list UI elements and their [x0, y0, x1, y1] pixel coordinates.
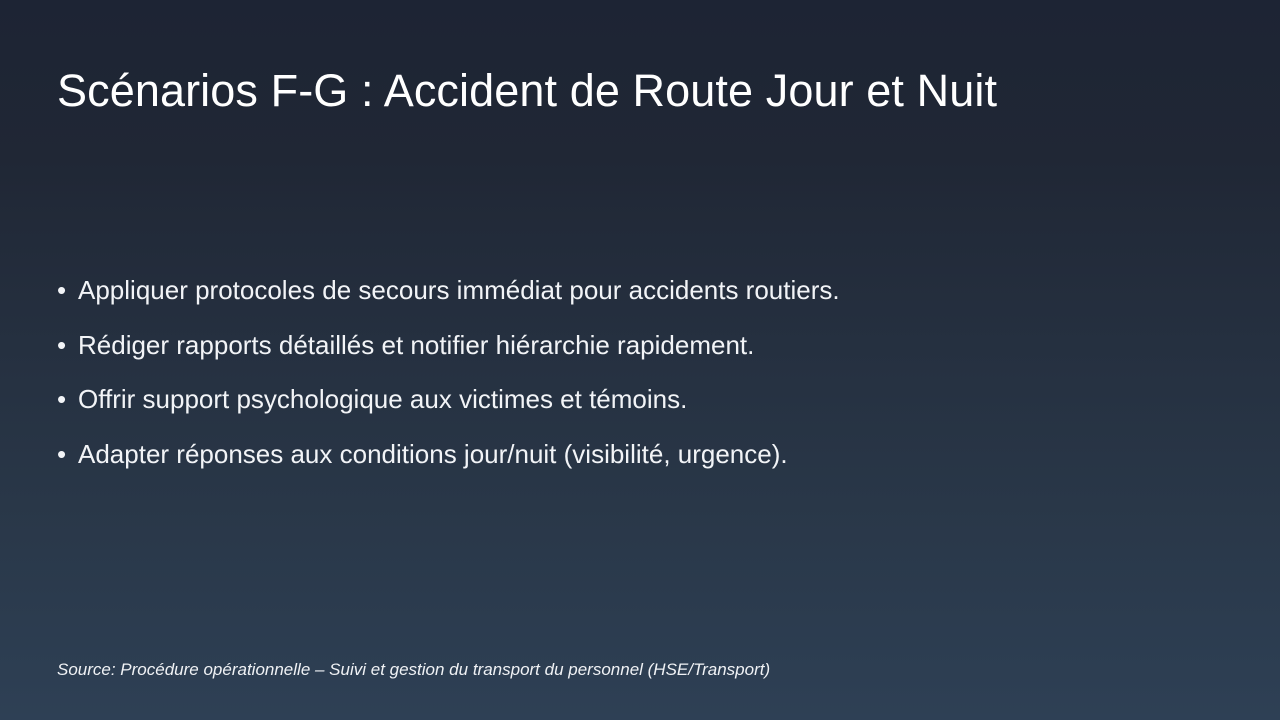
source-citation: Source: Procédure opérationnelle – Suivi…	[57, 659, 770, 681]
list-item-label: Appliquer protocoles de secours immédiat…	[78, 263, 840, 318]
list-item: • Appliquer protocoles de secours immédi…	[57, 263, 1197, 318]
bullet-point-icon: •	[57, 427, 78, 482]
bullet-list: • Appliquer protocoles de secours immédi…	[57, 263, 1197, 481]
page-title: Scénarios F-G : Accident de Route Jour e…	[57, 56, 1177, 126]
list-item-label: Rédiger rapports détaillés et notifier h…	[78, 318, 754, 373]
list-item: • Adapter réponses aux conditions jour/n…	[57, 427, 1197, 482]
list-item: • Offrir support psychologique aux victi…	[57, 372, 1197, 427]
list-item: • Rédiger rapports détaillés et notifier…	[57, 318, 1197, 373]
bullet-point-icon: •	[57, 372, 78, 427]
presentation-slide: Scénarios F-G : Accident de Route Jour e…	[0, 0, 1280, 720]
bullet-point-icon: •	[57, 318, 78, 373]
list-item-label: Offrir support psychologique aux victime…	[78, 372, 687, 427]
list-item-label: Adapter réponses aux conditions jour/nui…	[78, 427, 788, 482]
bullet-point-icon: •	[57, 263, 78, 318]
